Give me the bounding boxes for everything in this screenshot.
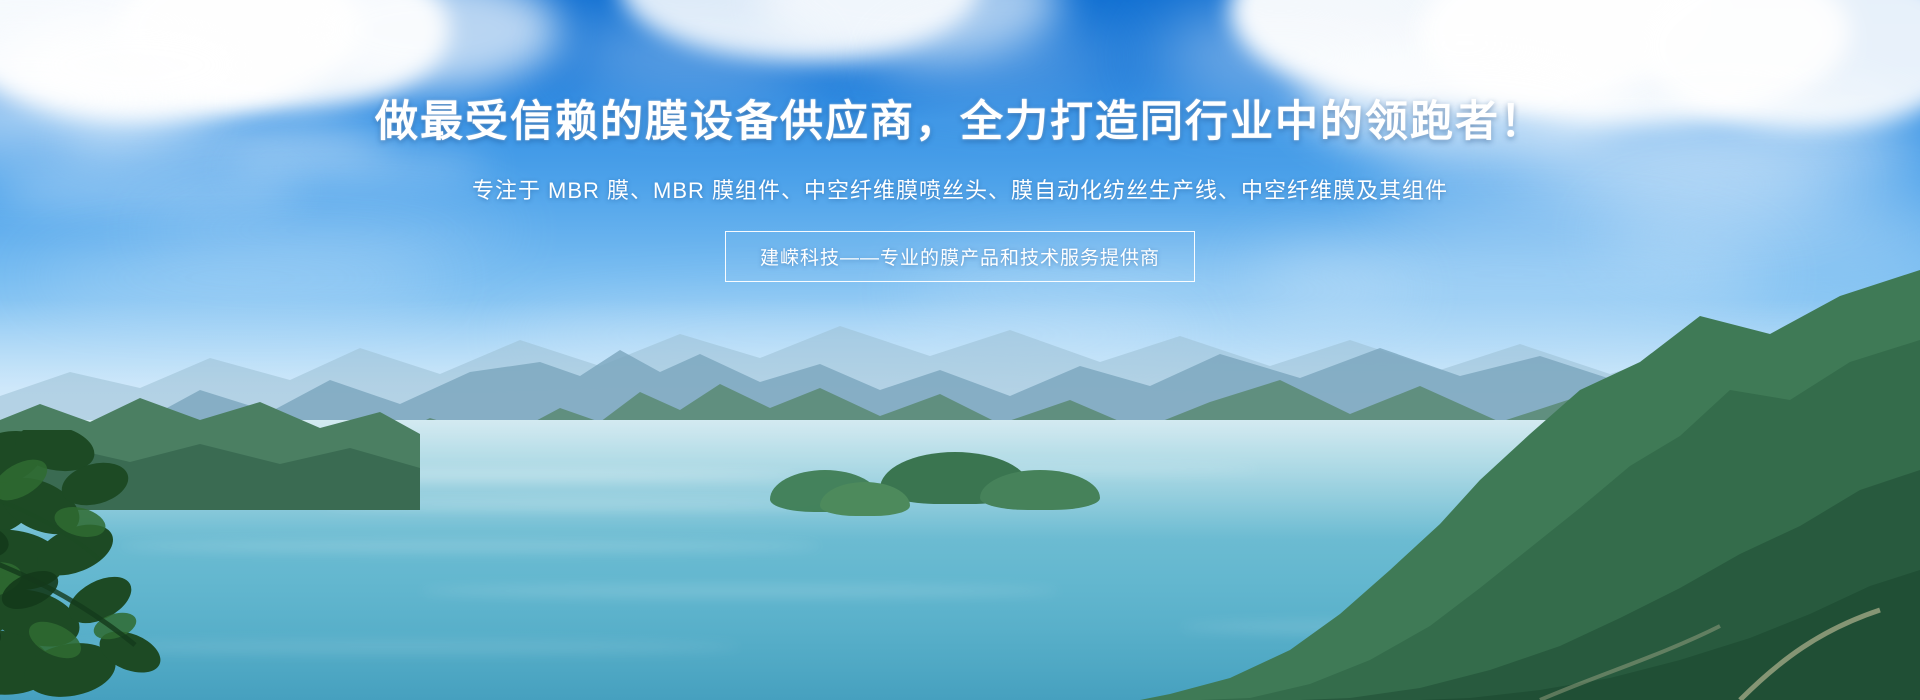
banner-tagline-box: 建嵘科技——专业的膜产品和技术服务提供商 [725, 231, 1195, 282]
banner-subtitle: 专注于 MBR 膜、MBR 膜组件、中空纤维膜喷丝头、膜自动化纺丝生产线、中空纤… [472, 173, 1448, 205]
banner-headline: 做最受信赖的膜设备供应商，全力打造同行业中的领跑者！ [375, 98, 1545, 147]
banner-content: 做最受信赖的膜设备供应商，全力打造同行业中的领跑者！ 专注于 MBR 膜、MBR… [0, 0, 1920, 700]
hero-banner: 做最受信赖的膜设备供应商，全力打造同行业中的领跑者！ 专注于 MBR 膜、MBR… [0, 0, 1920, 700]
